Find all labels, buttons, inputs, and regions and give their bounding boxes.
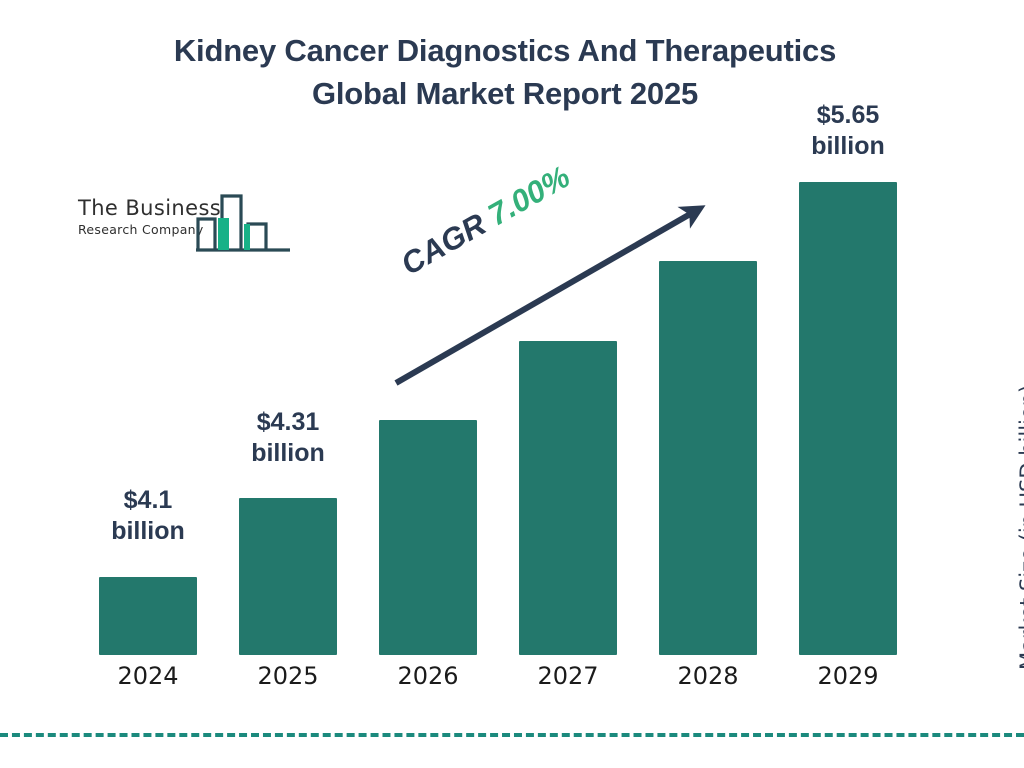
x-tick-2026: 2026	[379, 662, 477, 690]
bar-label-2025-amount: $4.31	[218, 407, 358, 438]
bar-label-2025-unit: billion	[218, 438, 358, 469]
bar-chart-plot-area: $4.1 billion $4.31 billion $5.65 billion…	[0, 0, 1024, 768]
bar-label-2029-amount: $5.65	[778, 100, 918, 131]
x-tick-2027: 2027	[519, 662, 617, 690]
footer-divider	[0, 733, 1024, 737]
x-tick-2028: 2028	[659, 662, 757, 690]
bar-label-2025: $4.31 billion	[218, 407, 358, 470]
bar-2024[interactable]	[99, 577, 197, 655]
cagr-annotation: CAGR 7.00%	[395, 159, 576, 283]
bar-2029[interactable]	[799, 182, 897, 655]
bar-label-2024: $4.1 billion	[78, 485, 218, 548]
bar-2026[interactable]	[379, 420, 477, 655]
cagr-value: 7.00%	[482, 159, 576, 233]
bar-label-2029: $5.65 billion	[778, 100, 918, 163]
bar-label-2024-unit: billion	[78, 516, 218, 547]
y-axis-title: Market Size (in USD billion)	[1016, 330, 1024, 670]
x-tick-2029: 2029	[799, 662, 897, 690]
bar-label-2029-unit: billion	[778, 131, 918, 162]
bar-2027[interactable]	[519, 341, 617, 655]
x-tick-2024: 2024	[99, 662, 197, 690]
cagr-label: CAGR	[395, 206, 492, 281]
bar-label-2024-amount: $4.1	[78, 485, 218, 516]
bar-2028[interactable]	[659, 261, 757, 655]
x-tick-2025: 2025	[239, 662, 337, 690]
bar-2025[interactable]	[239, 498, 337, 655]
